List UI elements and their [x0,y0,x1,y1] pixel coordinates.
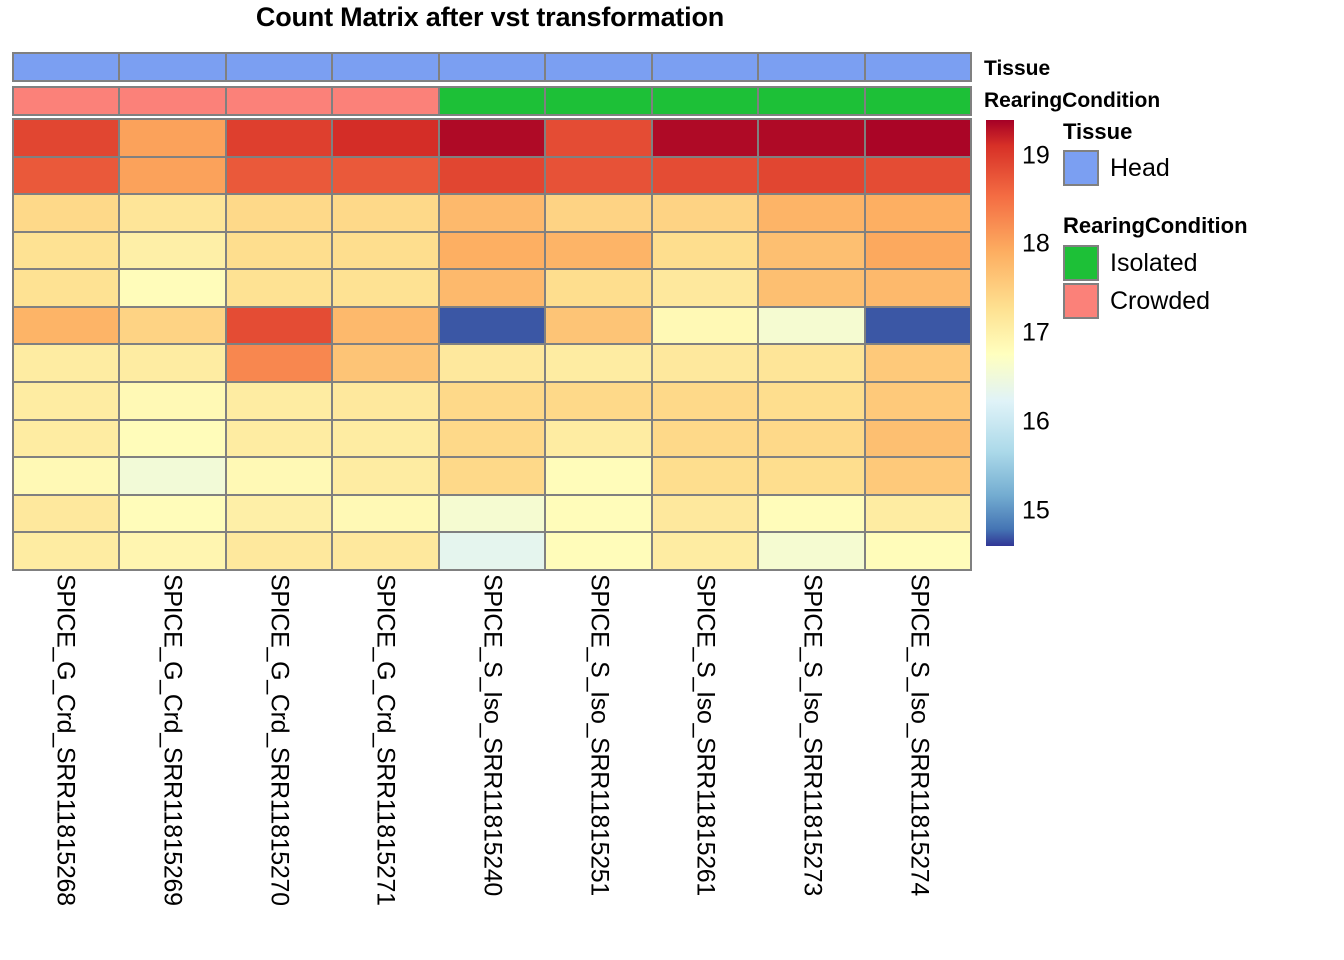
page-title: Count Matrix after vst transformation [0,2,980,33]
heatmap-cell[interactable] [12,381,120,421]
heatmap-cell[interactable] [864,494,972,534]
heatmap-cell[interactable] [757,419,865,459]
heatmap-cell[interactable] [864,268,972,308]
tissue-annotation-cell[interactable] [651,52,759,82]
heatmap-cell[interactable] [544,193,652,233]
tissue-annotation-cell[interactable] [864,52,972,82]
colorbar-tick-label: 16 [1022,407,1050,436]
heatmap-cell[interactable] [12,494,120,534]
heatmap-cell[interactable] [544,456,652,496]
tissue-annotation-cell[interactable] [225,52,333,82]
heatmap-cell[interactable] [864,456,972,496]
heatmap-cell[interactable] [12,343,120,383]
heatmap-row [12,193,972,233]
rearing-condition-annotation-bar [12,86,972,116]
legend-item-crowded[interactable]: Crowded [1063,283,1210,319]
heatmap-cell[interactable] [118,494,226,534]
heatmap-cell[interactable] [757,456,865,496]
heatmap-cell[interactable] [438,531,546,571]
heatmap-cell[interactable] [225,268,333,308]
column-label-slot: SPICE_S_Iso_SRR11815251 [545,574,652,960]
heatmap-cell[interactable] [331,268,439,308]
heatmap-cell[interactable] [12,268,120,308]
heatmap-cell[interactable] [118,531,226,571]
tissue-annotation-label: Tissue [984,57,1050,81]
heatmap-cell[interactable] [438,156,546,196]
heatmap-cell[interactable] [651,193,759,233]
heatmap-cell[interactable] [331,531,439,571]
heatmap-cell[interactable] [225,494,333,534]
heatmap-cell[interactable] [118,343,226,383]
heatmap-cell[interactable] [331,193,439,233]
rearing-condition-annotation-cell[interactable] [331,86,439,116]
heatmap-row [12,306,972,346]
heatmap-cell[interactable] [118,456,226,496]
heatmap-cell[interactable] [438,494,546,534]
column-label: SPICE_S_Iso_SRR11815240 [478,574,507,896]
heatmap-cell[interactable] [118,381,226,421]
column-label-slot: SPICE_G_Crd_SRR11815271 [332,574,439,960]
heatmap-cell[interactable] [651,381,759,421]
heatmap-cell[interactable] [864,306,972,346]
tissue-annotation-cell[interactable] [331,52,439,82]
heatmap-cell[interactable] [544,231,652,271]
heatmap-cell[interactable] [651,156,759,196]
heatmap-cell[interactable] [544,118,652,158]
column-label-slot: SPICE_G_Crd_SRR11815270 [225,574,332,960]
column-label-slot: SPICE_S_Iso_SRR11815274 [865,574,972,960]
column-label: SPICE_S_Iso_SRR11815273 [798,574,827,896]
column-label: SPICE_G_Crd_SRR11815271 [371,574,400,906]
heatmap-row [12,118,972,158]
heatmap-cell[interactable] [331,231,439,271]
legend-item-head[interactable]: Head [1063,150,1170,186]
heatmap-cell[interactable] [331,156,439,196]
heatmap-cell[interactable] [331,456,439,496]
heatmap-cell[interactable] [225,419,333,459]
heatmap-cell[interactable] [331,343,439,383]
heatmap-cell[interactable] [118,118,226,158]
heatmap-cell[interactable] [225,156,333,196]
heatmap-cell[interactable] [118,419,226,459]
heatmap-row [12,268,972,308]
heatmap-cell[interactable] [12,231,120,271]
column-label: SPICE_G_Crd_SRR11815269 [158,574,187,906]
colorbar-gradient [986,120,1014,546]
rearing-condition-annotation-cell[interactable] [757,86,865,116]
heatmap-cell[interactable] [331,419,439,459]
heatmap-cell[interactable] [864,419,972,459]
heatmap-cell[interactable] [331,494,439,534]
heatmap-cell[interactable] [12,156,120,196]
legend-label-head: Head [1110,154,1170,183]
rearing-condition-annotation-cell[interactable] [544,86,652,116]
tissue-annotation-cell[interactable] [438,52,546,82]
heatmap-grid [12,118,972,571]
heatmap-cell[interactable] [12,193,120,233]
column-labels: SPICE_G_Crd_SRR11815268SPICE_G_Crd_SRR11… [12,574,972,960]
column-label-slot: SPICE_G_Crd_SRR11815268 [12,574,119,960]
heatmap-cell[interactable] [757,381,865,421]
heatmap-cell[interactable] [544,531,652,571]
heatmap-cell[interactable] [544,268,652,308]
tissue-annotation-cell[interactable] [544,52,652,82]
heatmap-cell[interactable] [544,343,652,383]
heatmap-cell[interactable] [438,193,546,233]
column-label-slot: SPICE_S_Iso_SRR11815240 [439,574,546,960]
heatmap-cell[interactable] [757,268,865,308]
heatmap-cell[interactable] [651,494,759,534]
heatmap-cell[interactable] [118,156,226,196]
heatmap-cell[interactable] [651,419,759,459]
heatmap-cell[interactable] [544,156,652,196]
heatmap-cell[interactable] [757,494,865,534]
heatmap-cell[interactable] [12,531,120,571]
heatmap-cell[interactable] [438,456,546,496]
heatmap-cell[interactable] [225,381,333,421]
legend-swatch-crowded [1063,283,1099,319]
heatmap-row [12,531,972,571]
tissue-annotation-cell[interactable] [12,52,120,82]
colorbar-tick-label: 17 [1022,319,1050,348]
heatmap-cell[interactable] [225,118,333,158]
heatmap-cell[interactable] [118,231,226,271]
heatmap-cell[interactable] [225,343,333,383]
column-label: SPICE_G_Crd_SRR11815268 [51,574,80,906]
heatmap-cell[interactable] [757,343,865,383]
colorbar-tick-label: 15 [1022,496,1050,525]
legend-label-crowded: Crowded [1110,287,1210,316]
heatmap-cell[interactable] [331,381,439,421]
heatmap-cell[interactable] [544,381,652,421]
heatmap-cell[interactable] [438,381,546,421]
heatmap-cell[interactable] [438,419,546,459]
heatmap-cell[interactable] [12,306,120,346]
heatmap-cell[interactable] [331,118,439,158]
heatmap-cell[interactable] [864,231,972,271]
heatmap-cell[interactable] [544,419,652,459]
heatmap-cell[interactable] [757,531,865,571]
heatmap-cell[interactable] [757,231,865,271]
heatmap-cell[interactable] [864,343,972,383]
heatmap-cell[interactable] [651,456,759,496]
heatmap-cell[interactable] [651,343,759,383]
rearing-condition-annotation-cell[interactable] [651,86,759,116]
column-label-slot: SPICE_S_Iso_SRR11815273 [759,574,866,960]
rearing-condition-annotation-label: RearingCondition [984,89,1160,113]
heatmap-cell[interactable] [118,306,226,346]
heatmap-cell[interactable] [118,193,226,233]
heatmap-cell[interactable] [12,118,120,158]
heatmap-cell[interactable] [438,343,546,383]
colorbar [986,120,1014,546]
tissue-annotation-bar [12,52,972,82]
legend-label-isolated: Isolated [1110,249,1198,278]
tissue-annotation-cell[interactable] [118,52,226,82]
heatmap-row [12,456,972,496]
tissue-annotation-cell[interactable] [757,52,865,82]
legend-item-isolated[interactable]: Isolated [1063,245,1198,281]
legend-swatch-isolated [1063,245,1099,281]
rearing-condition-annotation-cell[interactable] [864,86,972,116]
legend-swatch-head [1063,150,1099,186]
heatmap-row [12,494,972,534]
column-label-slot: SPICE_G_Crd_SRR11815269 [119,574,226,960]
heatmap-cell[interactable] [544,306,652,346]
heatmap-cell[interactable] [118,268,226,308]
heatmap-cell[interactable] [225,193,333,233]
colorbar-tick-label: 18 [1022,230,1050,259]
heatmap-cell[interactable] [225,231,333,271]
heatmap-cell[interactable] [438,268,546,308]
heatmap-cell[interactable] [757,156,865,196]
rearing-condition-annotation-cell[interactable] [12,86,120,116]
heatmap-row [12,381,972,421]
heatmap-cell[interactable] [438,231,546,271]
column-label: SPICE_S_Iso_SRR11815274 [904,574,933,896]
heatmap-cell[interactable] [651,231,759,271]
heatmap-cell[interactable] [651,306,759,346]
heatmap-cell[interactable] [225,306,333,346]
heatmap-cell[interactable] [438,306,546,346]
heatmap-cell[interactable] [864,193,972,233]
heatmap-row [12,231,972,271]
column-label: SPICE_G_Crd_SRR11815270 [264,574,293,906]
legend-title-tissue: Tissue [1063,119,1132,145]
rearing-condition-annotation-cell[interactable] [225,86,333,116]
heatmap-cell[interactable] [12,419,120,459]
column-label-slot: SPICE_S_Iso_SRR11815261 [652,574,759,960]
legend-title-rearing-condition: RearingCondition [1063,213,1248,239]
rearing-condition-annotation-cell[interactable] [118,86,226,116]
heatmap-figure: Count Matrix after vst transformation Ti… [0,0,1344,960]
heatmap-row [12,156,972,196]
heatmap-cell[interactable] [651,118,759,158]
heatmap-cell[interactable] [12,456,120,496]
column-label: SPICE_S_Iso_SRR11815261 [691,574,720,896]
colorbar-tick-label: 19 [1022,141,1050,170]
heatmap-row [12,419,972,459]
heatmap-cell[interactable] [757,118,865,158]
heatmap-cell[interactable] [757,306,865,346]
heatmap-cell[interactable] [864,118,972,158]
heatmap-cell[interactable] [864,531,972,571]
heatmap-row [12,343,972,383]
heatmap-cell[interactable] [438,118,546,158]
heatmap-cell[interactable] [651,531,759,571]
heatmap-cell[interactable] [864,381,972,421]
column-label: SPICE_S_Iso_SRR11815251 [584,574,613,896]
heatmap-cell[interactable] [651,268,759,308]
rearing-condition-annotation-cell[interactable] [438,86,546,116]
heatmap-cell[interactable] [331,306,439,346]
heatmap-cell[interactable] [225,456,333,496]
heatmap-cell[interactable] [864,156,972,196]
heatmap-cell[interactable] [544,494,652,534]
heatmap-cell[interactable] [225,531,333,571]
heatmap-cell[interactable] [757,193,865,233]
